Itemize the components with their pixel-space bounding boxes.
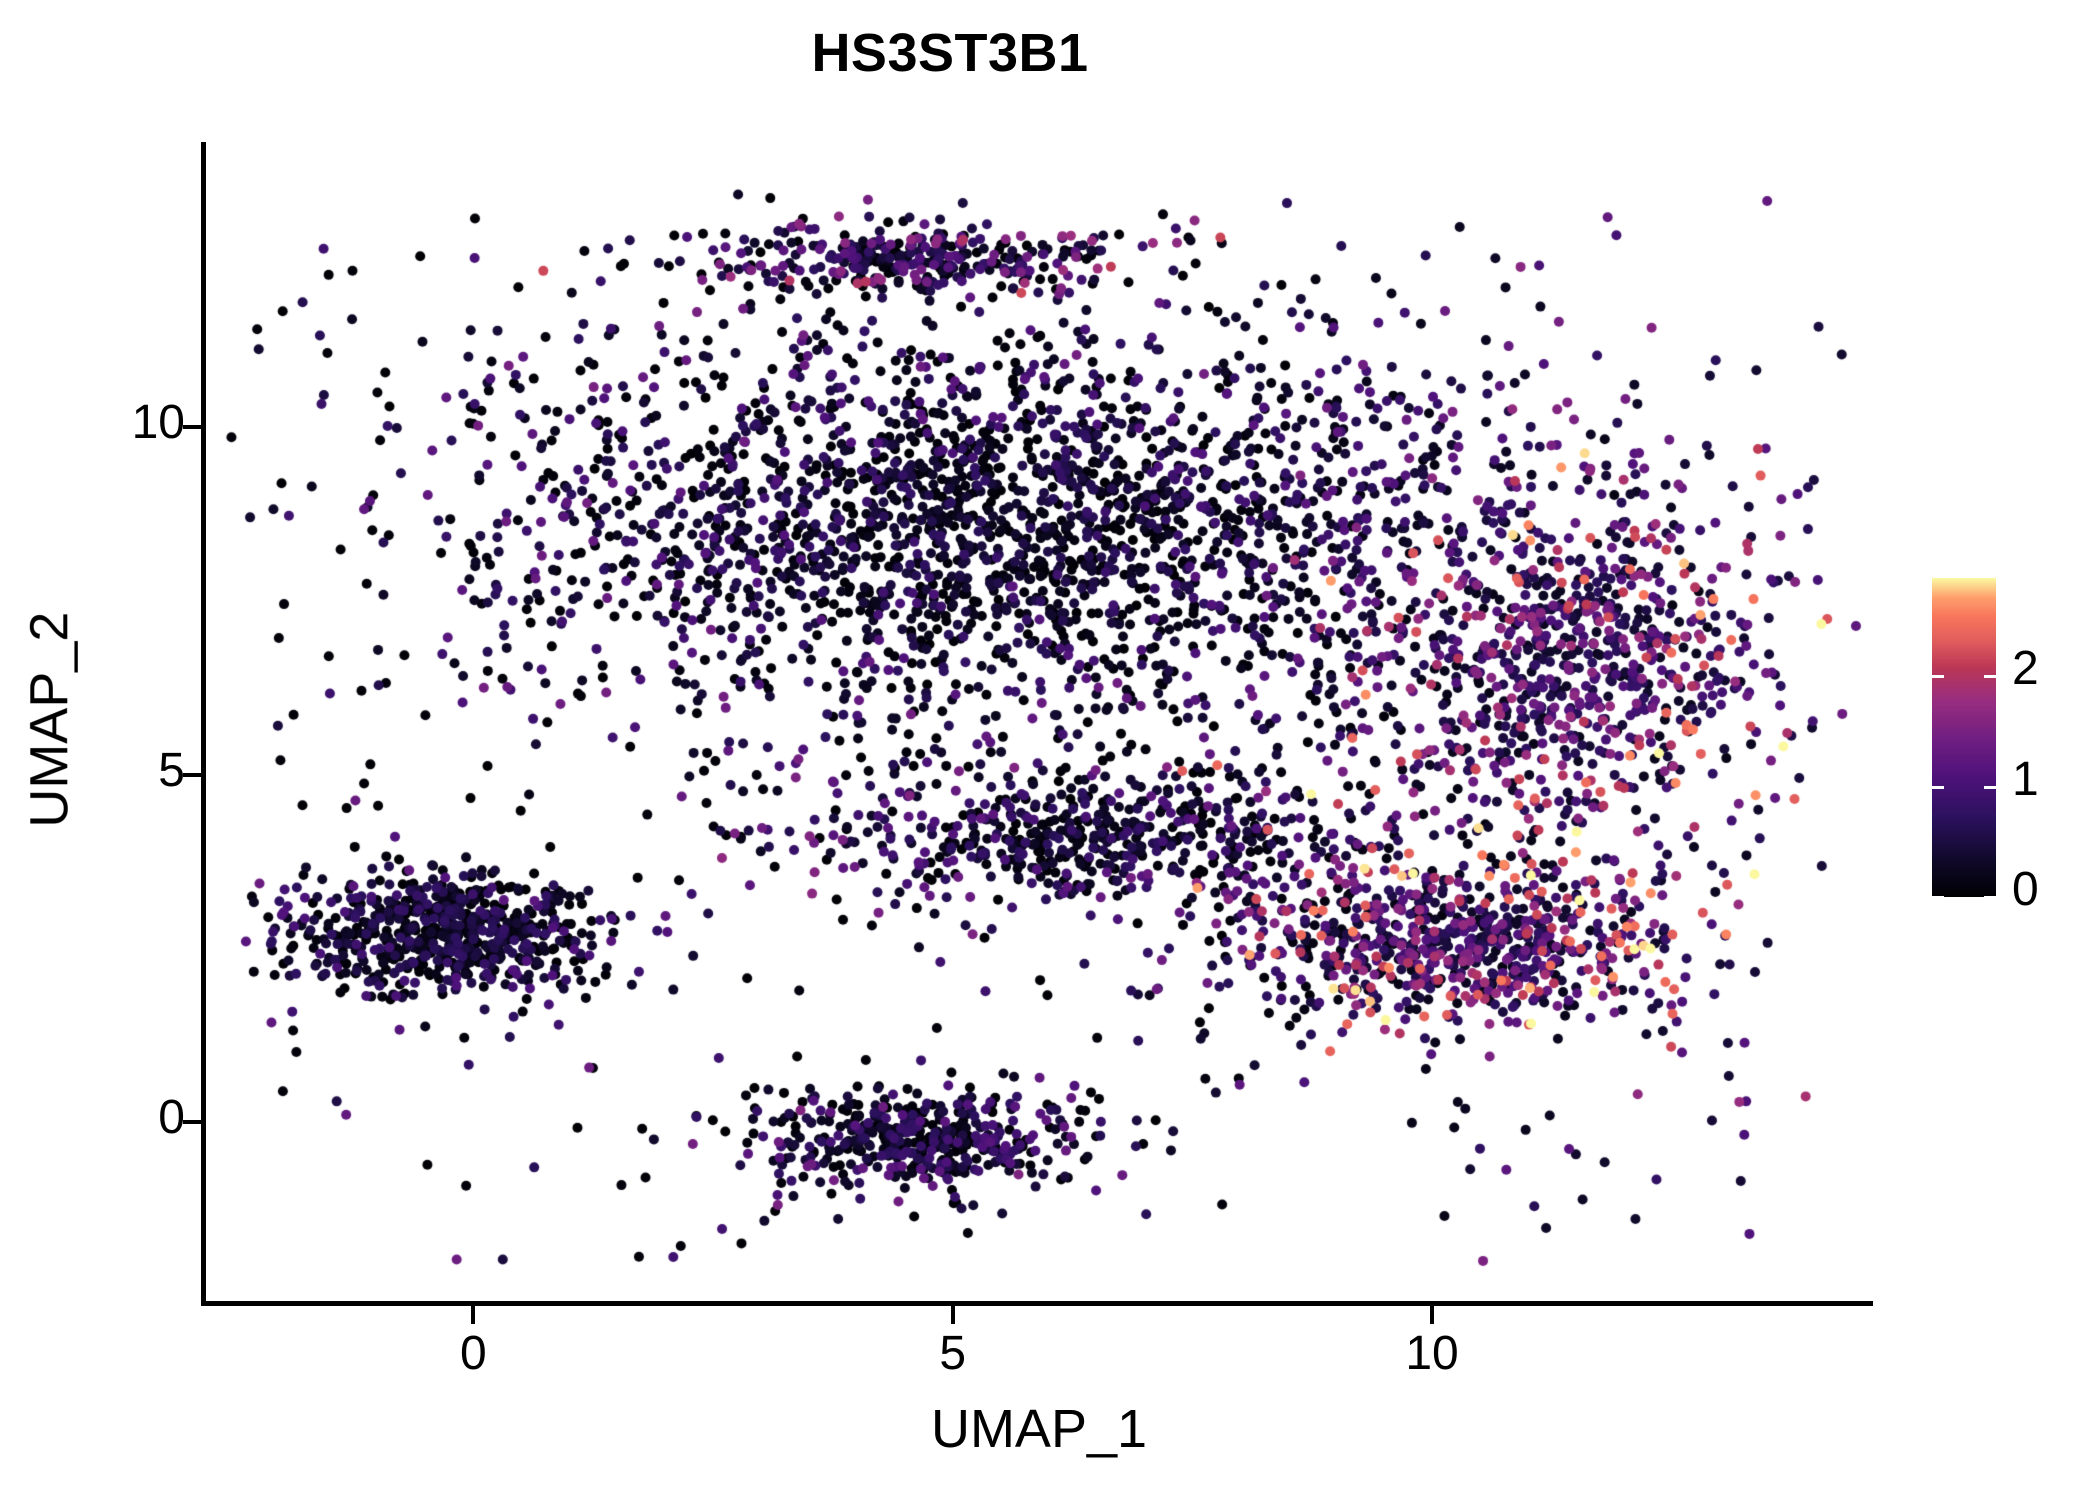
y-tick-mark-0: [183, 1120, 201, 1124]
colorbar-tick-2-left: [1932, 675, 1944, 678]
umap-feature-plot: HS3ST3B1 0 5 10 10 5 0 UMAP_1 UMAP_2 2 1…: [0, 0, 2100, 1500]
y-axis-title: UMAP_2: [20, 140, 79, 1300]
colorbar-tick-1-right: [1984, 786, 1996, 789]
colorbar-label-2: 2: [2012, 643, 2039, 696]
page-title: HS3ST3B1: [0, 24, 1900, 83]
colorbar-label-0: 0: [2012, 864, 2039, 917]
x-tick-mark-10: [1430, 1306, 1434, 1324]
colorbar-tick-2-right: [1984, 675, 1996, 678]
x-axis-line: [201, 1301, 1873, 1306]
colorbar-legend: 2 1 0: [1932, 578, 2092, 898]
x-tick-label-0: 0: [393, 1328, 553, 1381]
colorbar-gradient: [1932, 578, 1996, 897]
x-tick-label-10: 10: [1352, 1328, 1512, 1381]
y-tick-mark-10: [183, 425, 201, 429]
colorbar-tick-1-left: [1932, 786, 1944, 789]
x-tick-label-5: 5: [873, 1328, 1033, 1381]
plot-panel: [205, 142, 1873, 1303]
colorbar-label-1: 1: [2012, 754, 2039, 807]
x-axis-title: UMAP_1: [205, 1400, 1873, 1459]
colorbar-tick-0-left: [1932, 896, 1944, 899]
colorbar-tick-0-right: [1984, 896, 1996, 899]
y-axis-line: [201, 142, 206, 1306]
x-tick-mark-5: [951, 1306, 955, 1324]
x-tick-mark-0: [471, 1306, 475, 1324]
y-tick-mark-5: [183, 773, 201, 777]
scatter-plot-canvas: [205, 142, 1873, 1303]
